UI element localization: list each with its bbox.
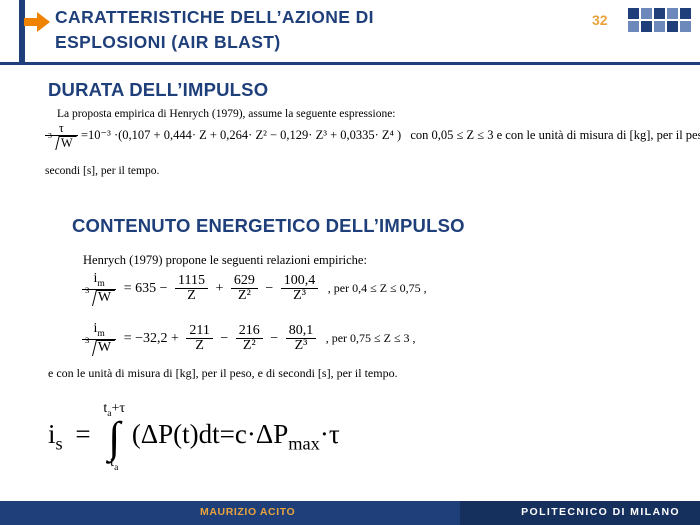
section1-intro-text: La proposta empirica di Henrych (1979), … <box>57 108 396 120</box>
equation-durata-impulso: τ 3 W =10⁻³ ·(0,107 + 0,444· Z + 0,264· … <box>45 122 700 150</box>
decor-square-4 <box>667 8 678 19</box>
eq2-term1-denominator: Z <box>175 289 208 304</box>
eq3-term2-denominator: Z² <box>236 339 263 354</box>
eq3-lhs-num-subscript: m <box>97 329 104 339</box>
decor-square-6 <box>628 21 639 32</box>
decor-square-8 <box>654 21 665 32</box>
slide-header: CARATTERISTICHE DELL’AZIONE DI ESPLOSION… <box>0 0 700 62</box>
eq1-condition: con 0,05 ≤ Z ≤ 3 e con le unità di misur… <box>404 128 700 142</box>
section-title-durata: DURATA DELL’IMPULSO <box>48 79 268 101</box>
radical-index: 3 <box>85 286 89 295</box>
eq4-integrand-subscript: max <box>288 434 320 454</box>
equation-impulso-integrale: is = ta+τ ∫ ta (ΔP(t)dt=c·ΔPmax·τ <box>48 400 340 474</box>
eq2-lhs-fraction: im 3 W <box>82 272 116 306</box>
decor-square-10 <box>680 21 691 32</box>
eq3-operator1: − <box>216 331 232 346</box>
eq2-operator2: − <box>261 281 277 296</box>
eq2-term3-denominator: Z³ <box>281 289 319 304</box>
eq3-operator2: − <box>266 331 282 346</box>
eq2-condition: , per 0,4 ≤ Z ≤ 0,75 , <box>322 281 427 295</box>
eq3-term1-denominator: Z <box>186 339 212 354</box>
eq3-term1-numerator: 211 <box>186 324 212 340</box>
decor-square-7 <box>641 21 652 32</box>
eq2-term2: 629 Z² <box>231 274 258 304</box>
section-title-contenuto: CONTENUTO ENERGETICO DELL’IMPULSO <box>72 215 465 237</box>
decor-square-3 <box>654 8 665 19</box>
eq3-condition: , per 0,75 ≤ Z ≤ 3 , <box>320 331 416 345</box>
decor-square-9 <box>667 21 678 32</box>
eq1-lhs-denominator: 3 W <box>45 136 78 150</box>
cube-root-icon: 3 W <box>48 136 75 150</box>
cube-root-icon: 3 W <box>85 340 113 356</box>
eq2-term3: 100,4 Z³ <box>281 274 319 304</box>
eq2-term2-numerator: 629 <box>231 274 258 290</box>
eq3-lead: = −32,2 + <box>120 331 183 346</box>
eq2-term1: 1115 Z <box>175 274 208 304</box>
radical-index: 3 <box>48 132 52 140</box>
page-title-line1: CARATTERISTICHE DELL’AZIONE DI <box>55 5 585 30</box>
eq2-term1-numerator: 1115 <box>175 274 208 290</box>
equation1-tail-text: secondi [s], per il tempo. <box>45 165 159 177</box>
radicand: W <box>98 291 111 306</box>
eq4-integral-with-limits: ta+τ ∫ ta <box>103 400 125 474</box>
eq3-term3-numerator: 80,1 <box>286 324 317 340</box>
eq3-term3: 80,1 Z³ <box>286 324 317 354</box>
eq4-integrand: (ΔP(t)dt=c·ΔPmax·τ <box>132 419 340 449</box>
integral-icon: ∫ <box>103 421 125 454</box>
section2-intro-text: Henrych (1979) propone le seguenti relaz… <box>83 253 367 268</box>
eq3-term3-denominator: Z³ <box>286 339 317 354</box>
decor-square-5 <box>680 8 691 19</box>
eq2-lhs-num-subscript: m <box>97 279 104 289</box>
eq2-lead: = 635 − <box>120 281 172 296</box>
equation-impulso-specifico-1: im 3 W = 635 − 1115 Z + 629 Z² − 100,4 Z… <box>82 272 427 306</box>
eq3-term2: 216 Z² <box>236 324 263 354</box>
eq1-right-hand-side: =10⁻³ ·(0,107 + 0,444· Z + 0,264· Z² − 0… <box>81 128 394 142</box>
arrow-right-icon <box>22 9 52 39</box>
eq3-term2-numerator: 216 <box>236 324 263 340</box>
header-divider <box>0 62 700 65</box>
decor-square-2 <box>641 8 652 19</box>
eq4-equals: = <box>69 419 96 449</box>
eq2-term2-denominator: Z² <box>231 289 258 304</box>
eq2-lhs-denominator: 3 W <box>82 290 116 306</box>
eq4-integrand-tail: ·τ <box>320 419 340 449</box>
footer-institution: POLITECNICO DI MILANO <box>521 506 680 518</box>
page-number: 32 <box>592 12 608 28</box>
footer-left-band <box>0 501 365 525</box>
eq3-lhs-denominator: 3 W <box>82 340 116 356</box>
eq1-lhs-fraction: τ 3 W <box>45 122 78 150</box>
equation-impulso-specifico-2: im 3 W = −32,2 + 211 Z − 216 Z² − 80,1 Z… <box>82 322 416 356</box>
eq4-lower-limit: ta <box>103 454 125 475</box>
footer-author: MAURIZIO ACITO <box>200 506 295 518</box>
slide-footer: MAURIZIO ACITO POLITECNICO DI MILANO <box>0 501 700 525</box>
radicand: W <box>61 137 73 150</box>
eq1-close-paren: ) <box>397 128 401 142</box>
eq2-operator1: + <box>211 281 227 296</box>
eq3-term1: 211 Z <box>186 324 212 354</box>
eq4-lower-limit-subscript: a <box>114 462 118 472</box>
section2-note-text: e con le unità di misura di [kg], per il… <box>48 366 398 381</box>
eq4-lhs-subscript: s <box>56 434 63 454</box>
eq3-lhs-fraction: im 3 W <box>82 322 116 356</box>
radicand: W <box>98 341 111 356</box>
page-title: CARATTERISTICHE DELL’AZIONE DI ESPLOSION… <box>55 5 585 55</box>
eq2-term3-numerator: 100,4 <box>281 274 319 290</box>
cube-root-icon: 3 W <box>85 290 113 306</box>
page-title-line2: ESPLOSIONI (AIR BLAST) <box>55 30 585 55</box>
eq4-lhs: is <box>48 419 63 449</box>
radical-index: 3 <box>85 336 89 345</box>
decor-square-1 <box>628 8 639 19</box>
